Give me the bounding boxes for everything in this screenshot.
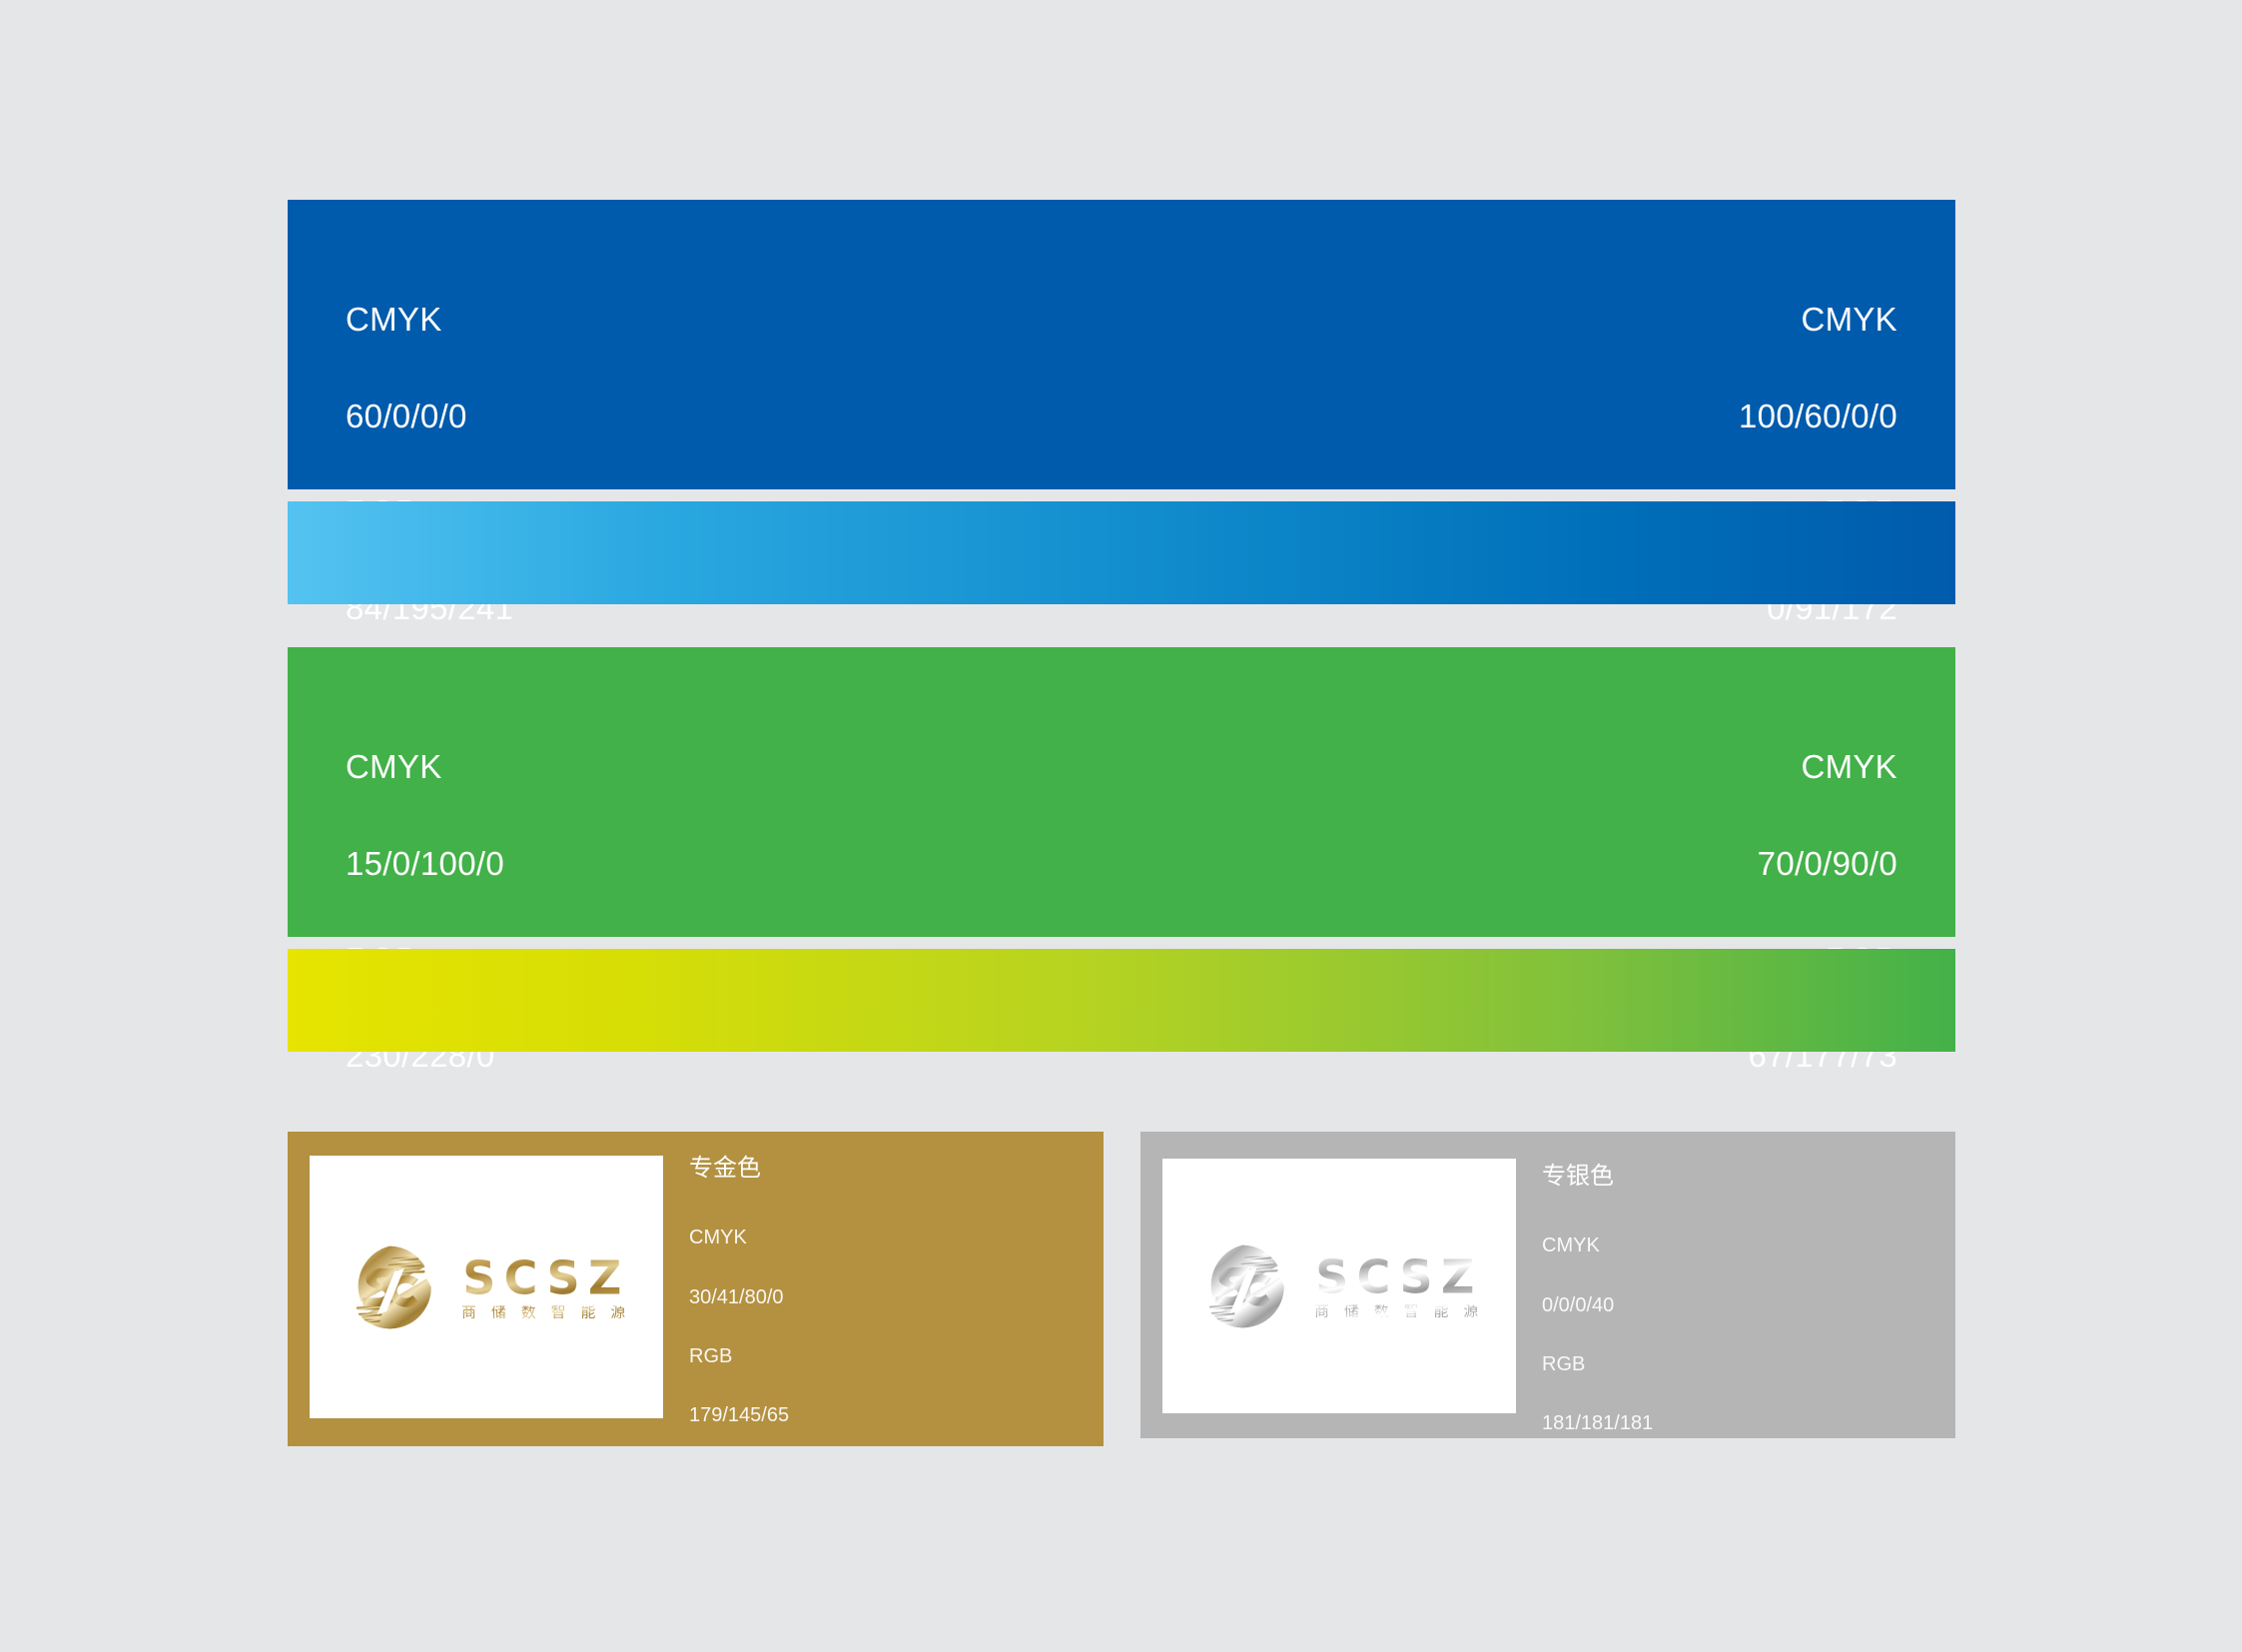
blue-right-cmyk-value: 100/60/0/0 <box>1739 393 1897 440</box>
green-right-cmyk-label: CMYK <box>1748 743 1897 791</box>
silver-rgb-value: 181/181/181 <box>1542 1409 1653 1439</box>
scsz-emblem-icon <box>342 1239 437 1335</box>
green-solid-swatch: CMYK 15/0/100/0 RGB 230/228/0 CMYK 70/0/… <box>288 647 1955 937</box>
green-left-spec: CMYK 15/0/100/0 RGB 230/228/0 <box>346 695 504 1129</box>
silver-subwordmark: 商 储 数 智 能 源 <box>1314 1303 1483 1318</box>
silver-cmyk-value: 0/0/0/40 <box>1542 1291 1653 1321</box>
silver-logo-lockup: SCSZ 商 储 数 智 能 源 <box>1194 1239 1483 1334</box>
gold-logo-lockup: SCSZ 商 储 数 智 能 源 <box>342 1239 630 1335</box>
blue-right-spec: CMYK 100/60/0/0 RGB 0/91/172 <box>1739 248 1897 681</box>
blue-solid-swatch: CMYK 60/0/0/0 RGB 84/195/241 CMYK 100/60… <box>288 200 1955 489</box>
gold-logo-wordmark-group: SCSZ 商 储 数 智 能 源 <box>461 1254 630 1319</box>
color-specification-board: CMYK 60/0/0/0 RGB 84/195/241 CMYK 100/60… <box>0 0 2242 1652</box>
gold-color-name: 专金色 <box>689 1154 789 1183</box>
blue-left-cmyk-label: CMYK <box>346 296 513 344</box>
silver-logo-wordmark-group: SCSZ 商 储 数 智 能 源 <box>1314 1253 1483 1318</box>
blue-gradient-swatch <box>288 501 1955 604</box>
gold-rgb-label: RGB <box>689 1342 789 1372</box>
gold-color-panel: SCSZ 商 储 数 智 能 源 专金色 CMYK 30/41/80/0 RGB… <box>288 1132 1104 1446</box>
blue-left-cmyk-value: 60/0/0/0 <box>346 393 513 440</box>
silver-caption: 专银色 CMYK 0/0/0/40 RGB 181/181/181 <box>1542 1162 1653 1468</box>
silver-wordmark: SCSZ <box>1315 1253 1482 1299</box>
green-left-cmyk-value: 15/0/100/0 <box>346 840 504 888</box>
gold-logo-card: SCSZ 商 储 数 智 能 源 <box>310 1156 663 1418</box>
gold-cmyk-label: CMYK <box>689 1224 789 1253</box>
gold-subwordmark: 商 储 数 智 能 源 <box>461 1304 630 1319</box>
silver-rgb-label: RGB <box>1542 1350 1653 1380</box>
silver-cmyk-label: CMYK <box>1542 1232 1653 1261</box>
gold-spec: CMYK 30/41/80/0 RGB 179/145/65 <box>689 1195 789 1460</box>
blue-left-spec: CMYK 60/0/0/0 RGB 84/195/241 <box>346 248 513 681</box>
blue-right-cmyk-label: CMYK <box>1739 296 1897 344</box>
green-gradient-swatch <box>288 949 1955 1052</box>
silver-color-panel: SCSZ 商 储 数 智 能 源 专银色 CMYK 0/0/0/40 RGB 1… <box>1140 1132 1955 1438</box>
silver-spec: CMYK 0/0/0/40 RGB 181/181/181 <box>1542 1203 1653 1468</box>
scsz-emblem-icon <box>1194 1239 1290 1334</box>
gold-caption: 专金色 CMYK 30/41/80/0 RGB 179/145/65 <box>689 1154 789 1460</box>
gold-cmyk-value: 30/41/80/0 <box>689 1283 789 1313</box>
silver-color-name: 专银色 <box>1542 1162 1653 1191</box>
silver-logo-card: SCSZ 商 储 数 智 能 源 <box>1162 1159 1516 1413</box>
gold-rgb-value: 179/145/65 <box>689 1401 789 1431</box>
gold-wordmark: SCSZ <box>462 1254 629 1300</box>
green-left-cmyk-label: CMYK <box>346 743 504 791</box>
green-right-cmyk-value: 70/0/90/0 <box>1748 840 1897 888</box>
green-right-spec: CMYK 70/0/90/0 RGB 67/177/73 <box>1748 695 1897 1129</box>
